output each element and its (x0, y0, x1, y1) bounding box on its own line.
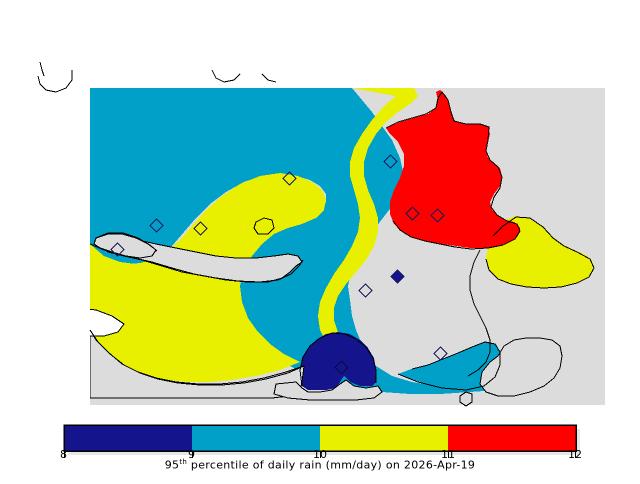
caption-superscript: th (179, 458, 187, 466)
weather-map-figure: VictoriaWeather.ca -- Summer Total Daily… (0, 0, 640, 480)
colorbar-segment-9-10[interactable] (192, 425, 320, 451)
colorbar-caption: 95th percentile of daily rain (mm/day) o… (0, 458, 640, 472)
colorbar-segment-11-12[interactable] (448, 425, 576, 451)
offscreen-bottom (0, 405, 640, 415)
offscreen-left (0, 88, 90, 405)
offscreen-right (605, 88, 640, 405)
caption-prefix: 95 (165, 459, 180, 472)
caption-suffix: percentile of daily rain (mm/day) on 202… (187, 459, 475, 472)
colorbar-segment-8-9[interactable] (64, 425, 192, 451)
contour-map-svg[interactable] (0, 0, 640, 415)
colorbar-segment-10-11[interactable] (320, 425, 448, 451)
map-panel[interactable] (0, 0, 640, 415)
